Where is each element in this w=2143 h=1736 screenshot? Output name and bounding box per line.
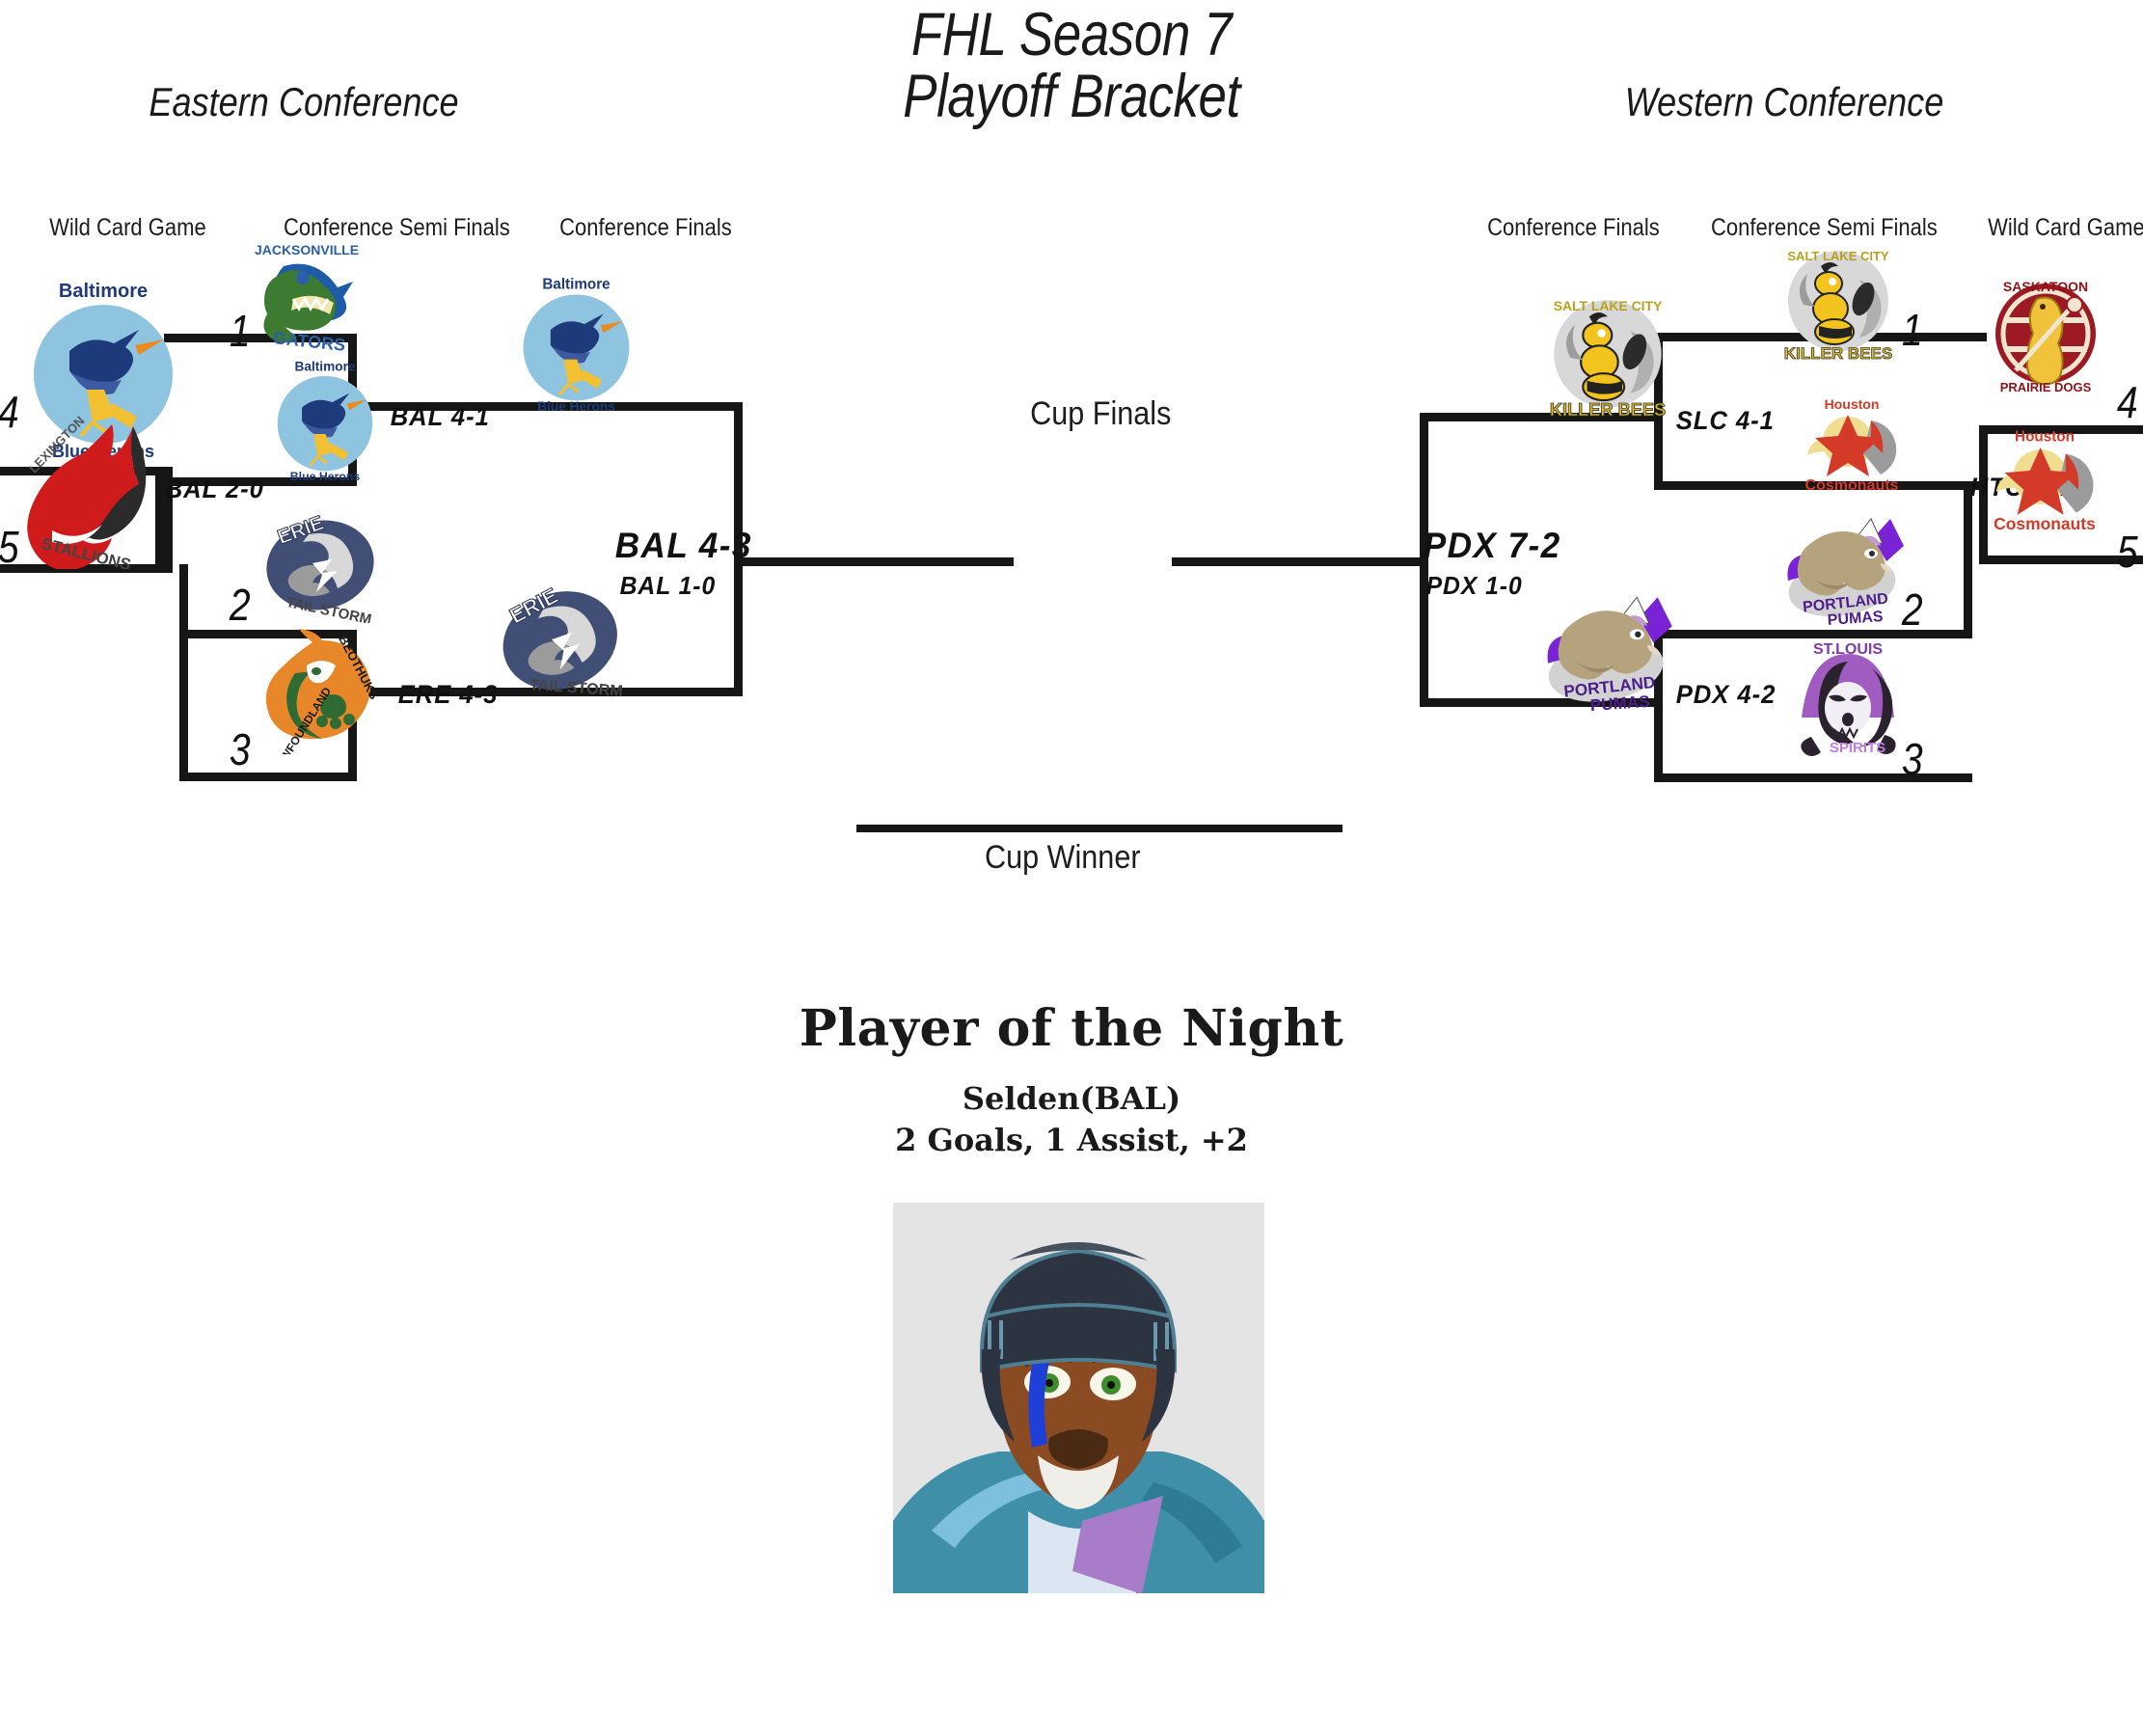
svg-text:Baltimore: Baltimore	[59, 281, 148, 302]
stallions-logo: LEXINGTON STALLIONS	[10, 415, 193, 569]
blueherons-logo-semi: Baltimore Blue Herons	[262, 355, 388, 486]
pumas-logo-final: PORTLAND PUMAS	[1532, 588, 1676, 716]
cosmonauts-logo-wildcard: Houston Cosmonauts	[1983, 424, 2106, 540]
svg-text:Houston: Houston	[2015, 428, 2075, 445]
spirits-logo: ST.LOUIS SPIRITS	[1786, 637, 1912, 758]
west-seed-5: 5	[2117, 526, 2138, 578]
western-conference-title: Western Conference	[1610, 79, 1958, 125]
beothuks-logo: BEOTHUKS NEWFOUNDLAND	[262, 627, 388, 754]
svg-text:SPIRITS: SPIRITS	[1830, 740, 1885, 756]
cup-winner-label: Cup Winner	[985, 839, 1141, 877]
west-final-out-line	[1172, 557, 1428, 566]
svg-text:TAIL STORM: TAIL STORM	[529, 676, 624, 700]
tailstorm-logo: ERIE TAIL STORM	[258, 509, 384, 623]
svg-text:KILLER BEES: KILLER BEES	[1550, 400, 1666, 420]
svg-text:PUMAS: PUMAS	[1827, 609, 1884, 629]
west-final-result: PDX 7-2	[1424, 526, 1561, 566]
svg-text:SASKATOON: SASKATOON	[2003, 279, 2088, 294]
west-round-label-semis: Conference Semi Finals	[1711, 214, 1938, 242]
svg-text:Baltimore: Baltimore	[294, 359, 355, 373]
svg-text:KILLER BEES: KILLER BEES	[1784, 344, 1892, 363]
svg-text:PRAIRIE DOGS: PRAIRIE DOGS	[2000, 380, 2092, 394]
east-semi-bot-feed-vert	[179, 564, 188, 781]
svg-text:PUMAS: PUMAS	[1589, 692, 1650, 715]
svg-text:ST.LOUIS: ST.LOUIS	[1813, 641, 1883, 658]
east-semi-bot-lower-line	[179, 773, 357, 781]
cup-winner-line	[856, 825, 1343, 832]
west-seed-4: 4	[2117, 376, 2138, 428]
svg-text:Houston: Houston	[1825, 396, 1880, 412]
east-final-out-line	[734, 557, 1014, 566]
west-final-subresult: PDX 1-0	[1426, 571, 1523, 601]
west-semi-feed-vert	[1964, 481, 1972, 630]
west-semi-top-result: SLC 4-1	[1676, 406, 1775, 436]
east-semi-bottom-result: ERE 4-3	[398, 680, 499, 710]
player-of-the-night-heading: Player of the Night	[0, 999, 2143, 1058]
east-round-label-wildcard: Wild Card Game	[49, 214, 206, 242]
east-round-label-finals: Conference Finals	[559, 214, 732, 242]
east-final-result: BAL 4-3	[615, 526, 752, 566]
player-of-the-night-stats: 2 Goals, 1 Assist, +2	[0, 1122, 2143, 1158]
prairiedogs-logo: SASKATOON PRAIRIE DOGS	[1983, 270, 2108, 395]
west-round-label-wildcard: Wild Card Game	[1988, 214, 2143, 242]
killerbees-logo-final: SALT LAKE CITY KILLER BEES	[1535, 289, 1680, 422]
svg-text:JACKSONVILLE: JACKSONVILLE	[255, 242, 359, 258]
east-final-subresult: BAL 1-0	[620, 571, 717, 601]
west-semi-bot-lower-line	[1654, 773, 1972, 782]
east-seed-3: 3	[230, 723, 251, 775]
killerbees-logo: SALT LAKE CITY KILLER BEES	[1771, 241, 1906, 365]
west-semi-bottom-result: PDX 4-2	[1676, 680, 1777, 710]
svg-text:Blue Herons: Blue Herons	[290, 470, 361, 483]
east-seed-1: 1	[230, 305, 251, 357]
svg-text:Blue Herons: Blue Herons	[537, 399, 615, 414]
svg-text:Baltimore: Baltimore	[542, 276, 610, 292]
svg-text:SALT LAKE CITY: SALT LAKE CITY	[1554, 298, 1663, 313]
svg-text:Cosmonauts: Cosmonauts	[1805, 477, 1899, 494]
gators-logo: JACKSONVILLE GATORS	[249, 241, 365, 355]
pumas-logo: PORTLAND PUMAS	[1773, 511, 1908, 629]
eastern-conference-title: Eastern Conference	[142, 79, 465, 125]
svg-text:SALT LAKE CITY: SALT LAKE CITY	[1787, 249, 1889, 263]
west-round-label-finals: Conference Finals	[1487, 214, 1660, 242]
svg-text:GATORS: GATORS	[272, 328, 346, 355]
blueherons-logo-final: Baltimore Blue Herons	[506, 272, 646, 417]
svg-text:Cosmonauts: Cosmonauts	[1994, 514, 2096, 533]
east-round-label-semis: Conference Semi Finals	[284, 214, 510, 242]
tailstorm-logo-final: ERIE TAIL STORM	[494, 579, 629, 704]
east-semi-top-result: BAL 4-1	[391, 402, 490, 432]
cup-finals-label: Cup Finals	[1030, 395, 1171, 433]
east-seed-2: 2	[230, 579, 251, 631]
player-of-the-night-name: Selden(BAL)	[0, 1080, 2143, 1117]
cosmonauts-logo: Houston Cosmonauts	[1796, 393, 1908, 500]
player-of-the-night-portrait	[893, 1203, 1264, 1593]
page-title-line1: FHL Season 7	[172, 4, 1971, 66]
